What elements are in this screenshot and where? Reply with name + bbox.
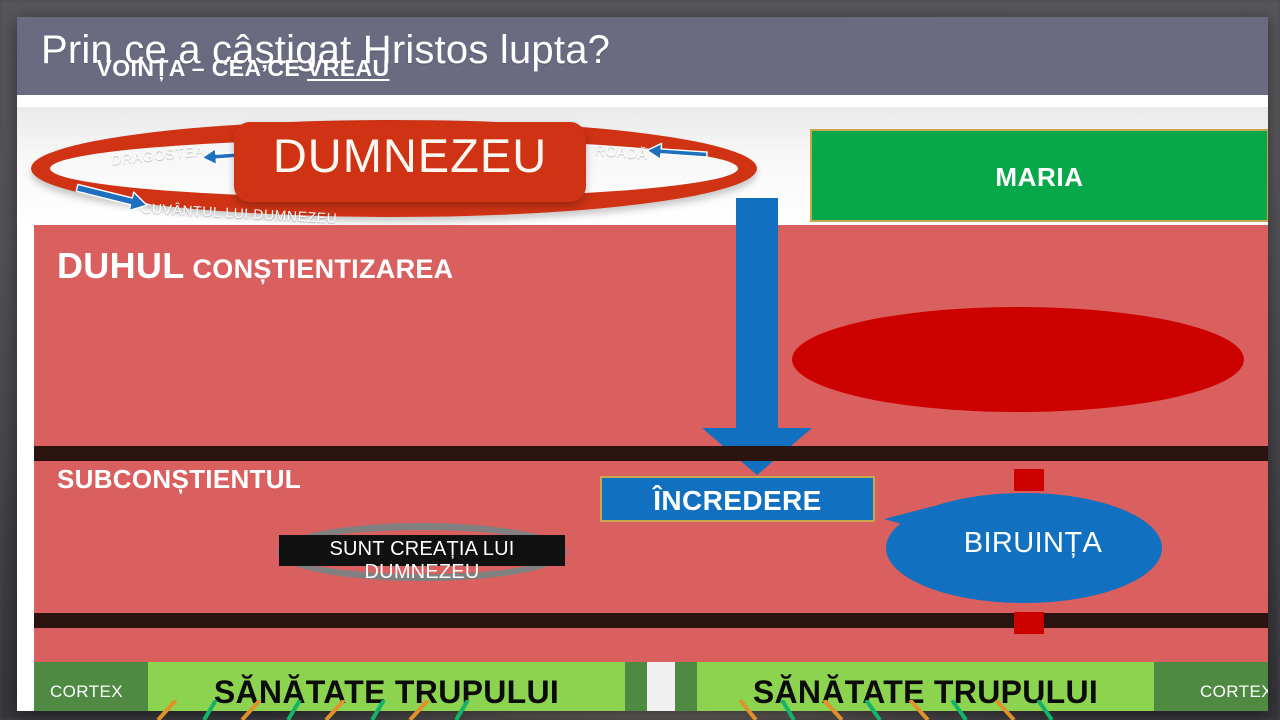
duhul-label: DUHUL xyxy=(57,245,184,286)
red-marker-bottom xyxy=(1014,612,1044,634)
cortex-label-right: CORTEX xyxy=(1200,682,1268,702)
nerve-wires xyxy=(0,700,1280,720)
vointa-ellipse xyxy=(792,307,1244,412)
incredere-box: ÎNCREDERE xyxy=(600,476,875,522)
duhul-line: DUHULCONȘTIENTIZAREA xyxy=(57,245,453,287)
divider-conscious-subconscious xyxy=(34,446,1268,461)
vointa-prefix: VOINȚA – CEA CE xyxy=(97,55,307,81)
biruinta-label: BIRUINȚA xyxy=(917,527,1149,560)
incredere-label: ÎNCREDERE xyxy=(602,485,873,517)
presentation-slide: Prin ce a câștigat Hristos lupta? DRAGOS… xyxy=(17,17,1268,711)
slide-stage: Prin ce a câștigat Hristos lupta? DRAGOS… xyxy=(0,0,1280,720)
arrow-left-icon xyxy=(645,142,709,164)
constientizarea-label: CONȘTIENTIZAREA xyxy=(192,254,453,284)
dumnezeu-label: DUMNEZEU xyxy=(234,128,586,183)
down-arrow-icon xyxy=(700,198,814,476)
maria-box: MARIA xyxy=(810,129,1268,222)
cortex-label-left: CORTEX xyxy=(50,682,123,702)
dumnezeu-box: DUMNEZEU xyxy=(234,122,586,202)
vointa-label: VOINȚA – CEA CE VREAU xyxy=(17,55,469,82)
vointa-underlined: VREAU xyxy=(307,55,390,81)
arrow-right-icon xyxy=(74,184,150,210)
divider-subconscious-body xyxy=(34,613,1268,628)
maria-label: MARIA xyxy=(812,162,1267,193)
subconstientul-label: SUBCONȘTIENTUL xyxy=(57,464,301,495)
creatia-label-text: SUNT CREAȚIA LUI DUMNEZEU xyxy=(279,538,565,584)
